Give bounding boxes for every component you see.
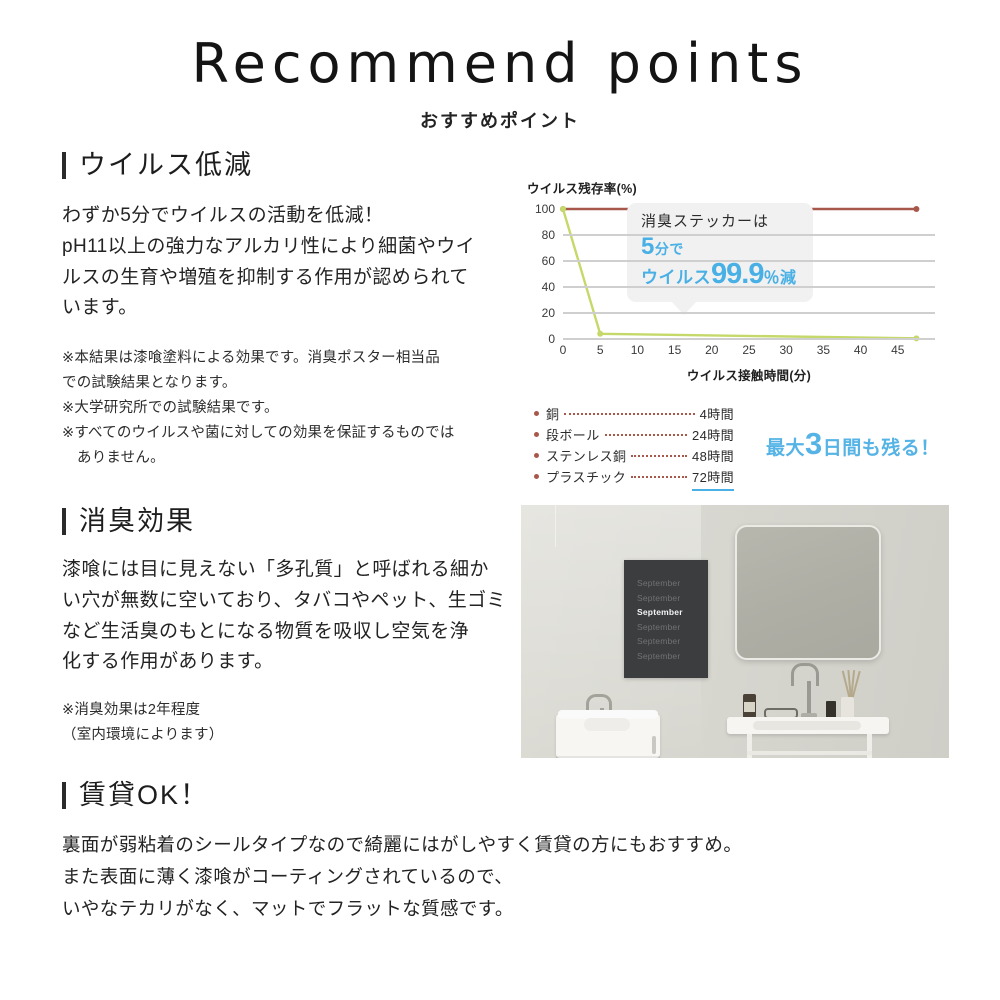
virus-survival-chart: ウイルス残存率(%) 消臭ステッカーは 5分で ウイルス99.9％減 05101…	[527, 178, 947, 384]
heading-accent-bar	[62, 782, 66, 809]
chart-x-tick-label: 25	[742, 343, 755, 357]
section-notes: ※消臭効果は2年程度 （室内環境によります）	[62, 698, 522, 748]
note-line: （室内環境によります）	[62, 723, 522, 748]
callout-minutes-number: 5	[641, 233, 655, 260]
note-line: ※すべてのウイルスや菌に対しての効果を保証するものでは	[62, 421, 512, 446]
chart-gridline	[563, 312, 935, 314]
chart-gridline	[563, 260, 935, 262]
bathroom-photo: SeptemberSeptemberSeptemberSeptemberSept…	[521, 505, 949, 758]
note-line: ※大学研究所での試験結果です。	[62, 396, 512, 421]
callout-virus-label: ウイルス	[641, 268, 711, 287]
section-title: 消臭効果	[79, 508, 195, 535]
vanity-sink	[727, 717, 889, 758]
chart-x-tick-label: 20	[705, 343, 718, 357]
legend-row: 銅4時間	[534, 404, 734, 425]
legend-row: ステンレス銅48時間	[534, 446, 734, 467]
section-body: わずか5分でウイルスの活動を低減！ pH11以上の強力なアルカリ性により細菌やウ…	[62, 201, 512, 324]
body-line: わずか5分でウイルスの活動を低減！	[62, 201, 512, 232]
vanity-basin	[753, 721, 861, 730]
chart-gridline	[563, 338, 935, 340]
poster-text-line: September	[637, 620, 708, 635]
page-subtitle: おすすめポイント	[0, 107, 1000, 133]
diffuser-bottle	[841, 697, 854, 718]
poster-text-line: September	[637, 649, 708, 664]
photo-wall-seam	[555, 505, 556, 547]
chart-gridline	[563, 234, 935, 236]
wall-mirror	[735, 525, 881, 660]
legend-duration-value: 48時間	[692, 446, 734, 467]
section-title: ウイルス低減	[79, 152, 253, 179]
chart-y-tick-label: 40	[527, 280, 555, 294]
callout-minutes-unit: 分	[655, 241, 670, 257]
legend-bullet-icon	[534, 453, 539, 458]
chart-y-tick-label: 0	[527, 332, 555, 346]
body-line: pH11以上の強力なアルカリ性により細菌やウイ	[62, 232, 512, 263]
chart-x-tick-label: 5	[597, 343, 604, 357]
legend-material-name: 段ボール	[546, 425, 600, 446]
amber-bottle	[743, 694, 756, 718]
max-days-prefix: 最大	[766, 438, 805, 459]
corner-washbasin	[556, 700, 660, 758]
chart-x-tick-label: 30	[780, 343, 793, 357]
chart-y-tick-label: 20	[527, 306, 555, 320]
toilet-shadow	[556, 756, 660, 758]
chart-x-axis-label: ウイルス接触時間(分)	[527, 365, 947, 384]
section-title: 賃貸OK！	[79, 782, 209, 809]
section-heading: ウイルス低減	[62, 152, 512, 179]
september-poster: SeptemberSeptemberSeptemberSeptemberSept…	[624, 560, 708, 678]
washbasin-bowl	[584, 718, 630, 731]
chart-y-tick-label: 60	[527, 254, 555, 268]
body-line: い穴が無数に空いており、タバコやペット、生ゴミ	[62, 586, 522, 617]
legend-dotted-leader	[631, 476, 687, 478]
faucet-spout	[791, 663, 819, 686]
poster-text-line: September	[637, 605, 708, 620]
section-deodorizing-effect: 消臭効果 漆喰には目に見えない「多孔質」と呼ばれる細か い穴が無数に空いており、…	[62, 508, 522, 748]
chart-x-tick-label: 10	[631, 343, 644, 357]
chart-x-tick-label: 45	[891, 343, 904, 357]
section-body: 漆喰には目に見えない「多孔質」と呼ばれる細か い穴が無数に空いており、タバコやペ…	[62, 555, 522, 678]
toilet-handle	[652, 736, 656, 754]
legend-dotted-leader	[631, 455, 687, 457]
legend-duration-value: 72時間	[692, 467, 734, 491]
body-line: 化する作用があります。	[62, 647, 522, 678]
page-title: Recommend points	[0, 36, 1000, 93]
note-line: での試験結果となります。	[62, 371, 512, 396]
chart-y-tick-label: 100	[527, 202, 555, 216]
section-virus-reduction: ウイルス低減 わずか5分でウイルスの活動を低減！ pH11以上の強力なアルカリ性…	[62, 152, 512, 471]
poster-text-line: September	[637, 634, 708, 649]
callout-line-1: 消臭ステッカーは	[641, 213, 801, 231]
legend-bullet-icon	[534, 432, 539, 437]
material-survival-legend: 銅4時間段ボール24時間ステンレス銅48時間プラスチック72時間	[534, 404, 734, 491]
callout-reduction-suffix: 減	[780, 270, 797, 287]
body-line: います。	[62, 293, 512, 324]
section-body: 裏面が弱粘着のシールタイプなので綺麗にはがしやすく賃貸の方にもおすすめ。 また表…	[62, 829, 862, 924]
chart-x-tick-label: 15	[668, 343, 681, 357]
legend-row: プラスチック72時間	[534, 467, 734, 491]
body-line: など生活臭のもとになる物質を吸収し空気を浄	[62, 617, 522, 648]
legend-material-name: 銅	[546, 404, 559, 425]
chart-gridline	[563, 286, 935, 288]
vanity-rail	[747, 751, 872, 755]
max-days-callout: 最大3日間も残る！	[766, 428, 940, 459]
legend-dotted-leader	[605, 434, 687, 436]
page-header: Recommend points おすすめポイント	[0, 36, 1000, 133]
poster-text-line: September	[637, 576, 708, 591]
legend-bullet-icon	[534, 474, 539, 479]
chart-x-tick-label: 40	[854, 343, 867, 357]
note-line: ※本結果は漆喰塗料による効果です。消臭ポスター相当品	[62, 346, 512, 371]
chart-plot-area: 消臭ステッカーは 5分で ウイルス99.9％減 0510152025303540…	[527, 209, 947, 339]
chart-x-tick-label: 0	[560, 343, 567, 357]
chart-x-axis: 051015202530354045	[563, 339, 935, 359]
heading-accent-bar	[62, 508, 66, 535]
reed-diffuser-sticks	[843, 670, 857, 700]
section-rental-ok: 賃貸OK！ 裏面が弱粘着のシールタイプなので綺麗にはがしやすく賃貸の方にもおすす…	[62, 782, 862, 924]
poster-text-line: September	[637, 591, 708, 606]
legend-material-name: プラスチック	[546, 467, 626, 488]
section-heading: 賃貸OK！	[62, 782, 862, 809]
legend-duration-value: 4時間	[700, 404, 734, 425]
legend-duration-value: 24時間	[692, 425, 734, 446]
body-line: また表面に薄く漆喰がコーティングされているので、	[62, 861, 862, 893]
max-days-suffix: 日間も残る！	[823, 438, 940, 459]
recommend-points-page: Recommend points おすすめポイント ウイルス低減 わずか5分でウ…	[0, 0, 1000, 1000]
chart-y-tick-label: 80	[527, 228, 555, 242]
legend-row: 段ボール24時間	[534, 425, 734, 446]
max-days-number: 3	[805, 426, 823, 461]
chart-y-axis-label: ウイルス残存率(%)	[527, 178, 947, 197]
body-line: 漆喰には目に見えない「多孔質」と呼ばれる細か	[62, 555, 522, 586]
chart-data-point	[597, 331, 603, 337]
heading-accent-bar	[62, 152, 66, 179]
note-line: ありません。	[62, 446, 512, 471]
chart-x-tick-label: 35	[817, 343, 830, 357]
callout-percent-sign: ％	[763, 270, 780, 287]
body-line: いやなテカリがなく、マットでフラットな質感です。	[62, 893, 862, 925]
chart-gridline	[563, 208, 935, 210]
callout-minutes-suffix: で	[669, 241, 684, 257]
legend-bullet-icon	[534, 411, 539, 416]
legend-material-name: ステンレス銅	[546, 446, 626, 467]
body-line: 裏面が弱粘着のシールタイプなので綺麗にはがしやすく賃貸の方にもおすすめ。	[62, 829, 862, 861]
body-line: ルスの生育や増殖を抑制する作用が認められて	[62, 263, 512, 294]
section-heading: 消臭効果	[62, 508, 522, 535]
section-notes: ※本結果は漆喰塗料による効果です。消臭ポスター相当品 での試験結果となります。 …	[62, 346, 512, 471]
callout-line-2: 5分で	[641, 234, 801, 259]
legend-dotted-leader	[564, 413, 694, 415]
note-line: ※消臭効果は2年程度	[62, 698, 522, 723]
